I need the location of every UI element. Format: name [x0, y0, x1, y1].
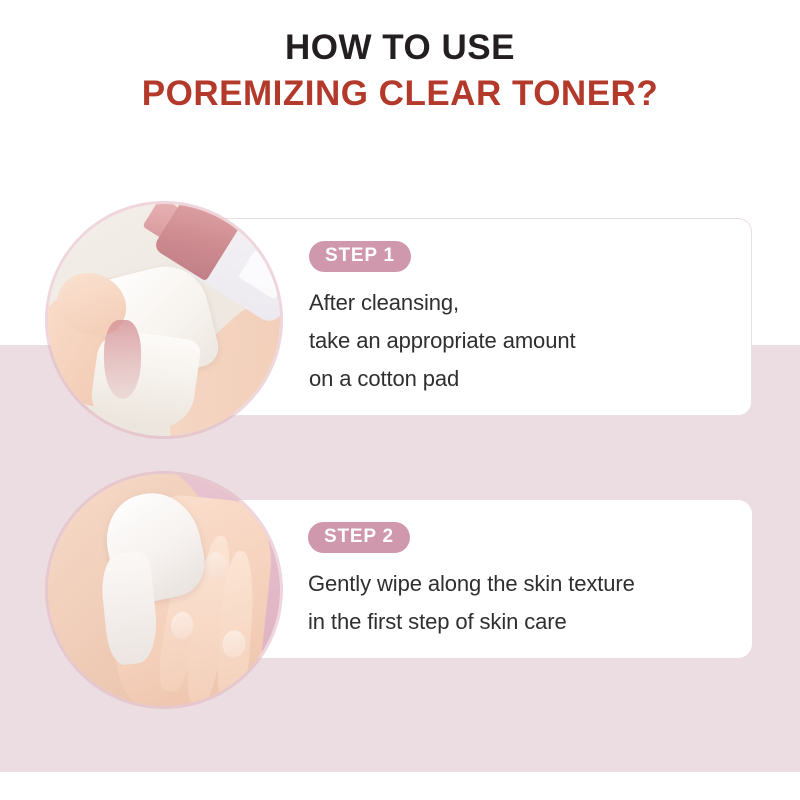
- step-2-line-2: in the first step of skin care: [308, 603, 734, 641]
- step-2-badge: STEP 2: [308, 522, 410, 553]
- step-1-line-1: After cleansing,: [309, 284, 733, 322]
- photo-1-toner-drip: [104, 320, 141, 399]
- step-1-content: STEP 1 After cleansing, take an appropri…: [309, 241, 733, 398]
- photo-1-bottle-label: [238, 250, 280, 299]
- step-2-line-1: Gently wipe along the skin texture: [308, 565, 734, 603]
- step-1-line-2: take an appropriate amount: [309, 322, 733, 360]
- step-2-photo-illustration: [48, 474, 280, 706]
- step-1-badge: STEP 1: [309, 241, 411, 272]
- page-title-line-1: HOW TO USE: [0, 26, 800, 70]
- step-2-text: Gently wipe along the skin texture in th…: [308, 565, 734, 641]
- step-1-photo: [48, 204, 280, 436]
- step-1-text: After cleansing, take an appropriate amo…: [309, 284, 733, 398]
- how-to-use-graphic: HOW TO USE POREMIZING CLEAR TONER? STEP …: [0, 0, 800, 800]
- page-title-line-2: POREMIZING CLEAR TONER?: [0, 70, 800, 118]
- step-1-line-3: on a cotton pad: [309, 360, 733, 398]
- step-2-content: STEP 2 Gently wipe along the skin textur…: [308, 522, 734, 641]
- step-2-photo: [48, 474, 280, 706]
- step-1-photo-illustration: [48, 204, 280, 436]
- background-bottom-white: [0, 772, 800, 800]
- page-title: HOW TO USE POREMIZING CLEAR TONER?: [0, 26, 800, 118]
